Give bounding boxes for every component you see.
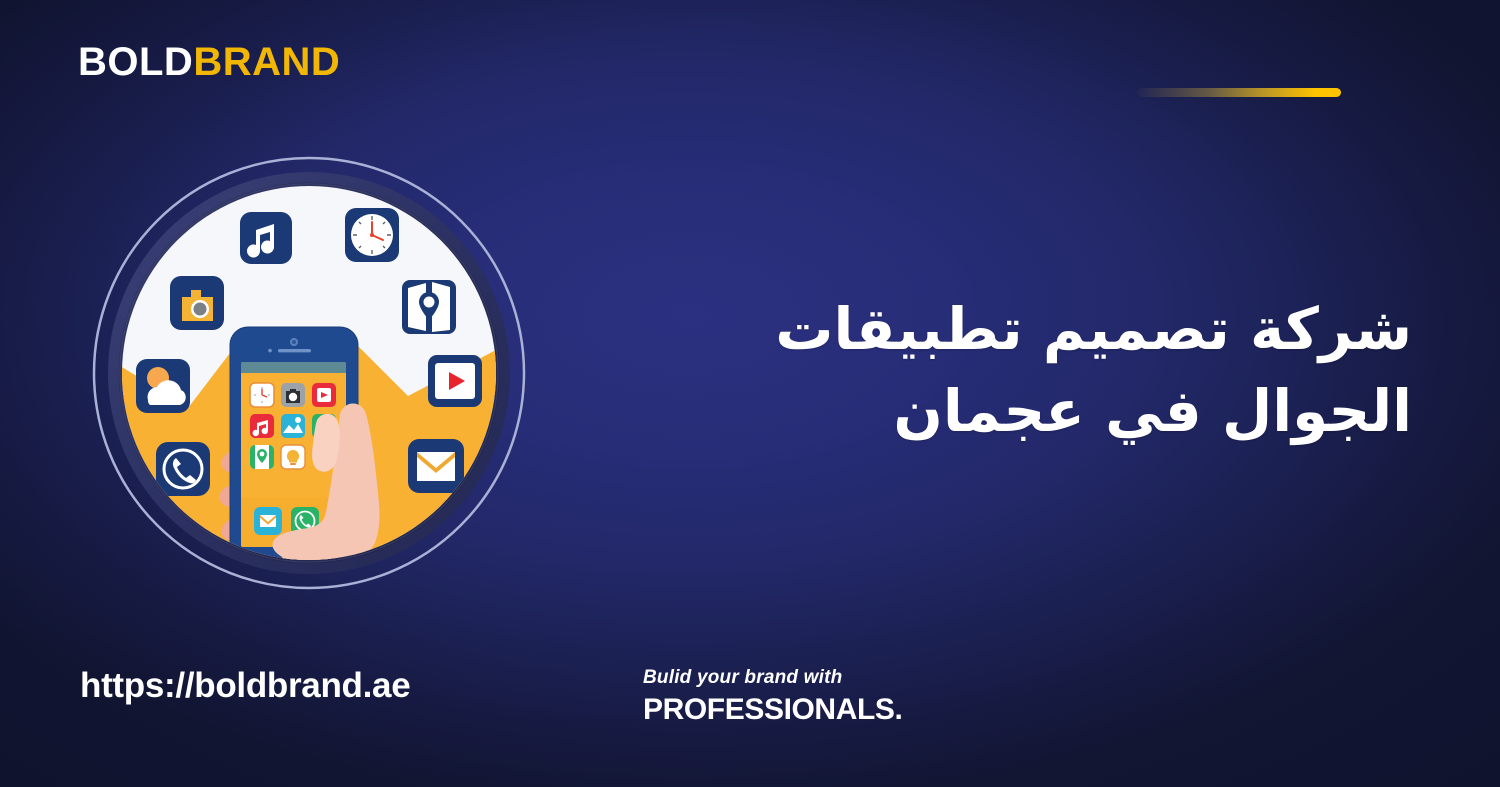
tagline: Bulid your brand with PROFESSIONALS. — [643, 668, 902, 727]
tagline-bottom-line: PROFESSIONALS. — [643, 693, 902, 728]
camera-app-icon — [281, 383, 305, 407]
camera-icon — [170, 276, 224, 330]
music-icon — [240, 212, 292, 264]
maps-app-icon — [250, 445, 274, 469]
phone-icon — [156, 442, 210, 496]
weather-icon — [136, 359, 190, 413]
logo-text-brand: BRAND — [193, 40, 340, 84]
page-title: شركة تصميم تطبيقات الجوال في عجمان — [712, 288, 1412, 453]
music-app-icon — [250, 414, 274, 438]
video-app-icon — [312, 383, 336, 407]
lightbulb-app-icon — [281, 445, 305, 469]
mail-dock-icon — [254, 507, 282, 535]
headline-line-1: شركة تصميم تطبيقات — [712, 288, 1412, 370]
website-url[interactable]: https://boldbrand.ae — [80, 666, 410, 706]
headline-line-2: الجوال في عجمان — [712, 370, 1412, 452]
mail-icon — [408, 439, 464, 493]
promo-banner: BOLDBRAND — [0, 0, 1500, 787]
tagline-top-line: Bulid your brand with — [643, 668, 902, 689]
illustration-svg — [78, 152, 540, 594]
maps-icon — [402, 280, 456, 334]
photos-app-icon — [281, 414, 305, 438]
logo-text-bold: BOLD — [78, 40, 193, 84]
clock-icon — [345, 208, 399, 262]
video-icon — [428, 355, 482, 407]
accent-bar — [1137, 88, 1341, 97]
clock-app-icon — [250, 383, 274, 407]
hero-illustration — [78, 152, 540, 594]
brand-logo[interactable]: BOLDBRAND — [78, 42, 340, 82]
